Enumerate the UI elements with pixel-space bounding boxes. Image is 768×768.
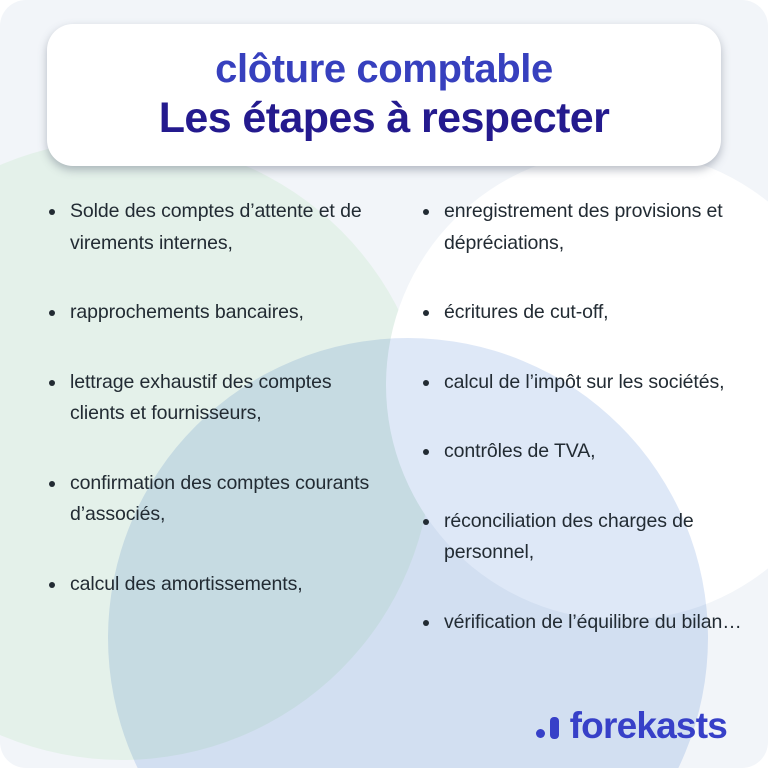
- logo-bar-shape: [550, 717, 559, 739]
- dot-bar-mark-icon: [536, 713, 559, 739]
- logo-dot-shape: [536, 729, 545, 738]
- page-subtitle: clôture comptable: [215, 48, 553, 90]
- brand-logo: forekasts: [536, 707, 727, 744]
- list-item: Solde des comptes d’attente et de vireme…: [47, 196, 372, 259]
- checklist-column-right: enregistrement des provisions et dépréci…: [380, 196, 768, 639]
- list-item: vérification de l’équilibre du bilan…: [421, 607, 750, 639]
- list-item: enregistrement des provisions et dépréci…: [421, 196, 750, 259]
- list-item: confirmation des comptes courants d’asso…: [47, 468, 372, 531]
- list-item: calcul de l’impôt sur les sociétés,: [421, 367, 750, 399]
- bullet-list-right: enregistrement des provisions et dépréci…: [421, 196, 750, 639]
- page-title: Les étapes à respecter: [159, 96, 610, 141]
- poster-canvas: clôture comptable Les étapes à respecter…: [0, 0, 768, 768]
- checklist-column-left: Solde des comptes d’attente et de vireme…: [0, 196, 380, 639]
- list-item: lettrage exhaustif des comptes clients e…: [47, 367, 372, 430]
- header-card: clôture comptable Les étapes à respecter: [47, 24, 721, 166]
- list-item: écritures de cut-off,: [421, 297, 750, 329]
- checklist-columns: Solde des comptes d’attente et de vireme…: [0, 196, 768, 639]
- list-item: contrôles de TVA,: [421, 436, 750, 468]
- list-item: calcul des amortissements,: [47, 569, 372, 601]
- brand-name: forekasts: [570, 707, 727, 744]
- list-item: réconciliation des charges de personnel,: [421, 506, 750, 569]
- list-item: rapprochements bancaires,: [47, 297, 372, 329]
- bullet-list-left: Solde des comptes d’attente et de vireme…: [47, 196, 372, 601]
